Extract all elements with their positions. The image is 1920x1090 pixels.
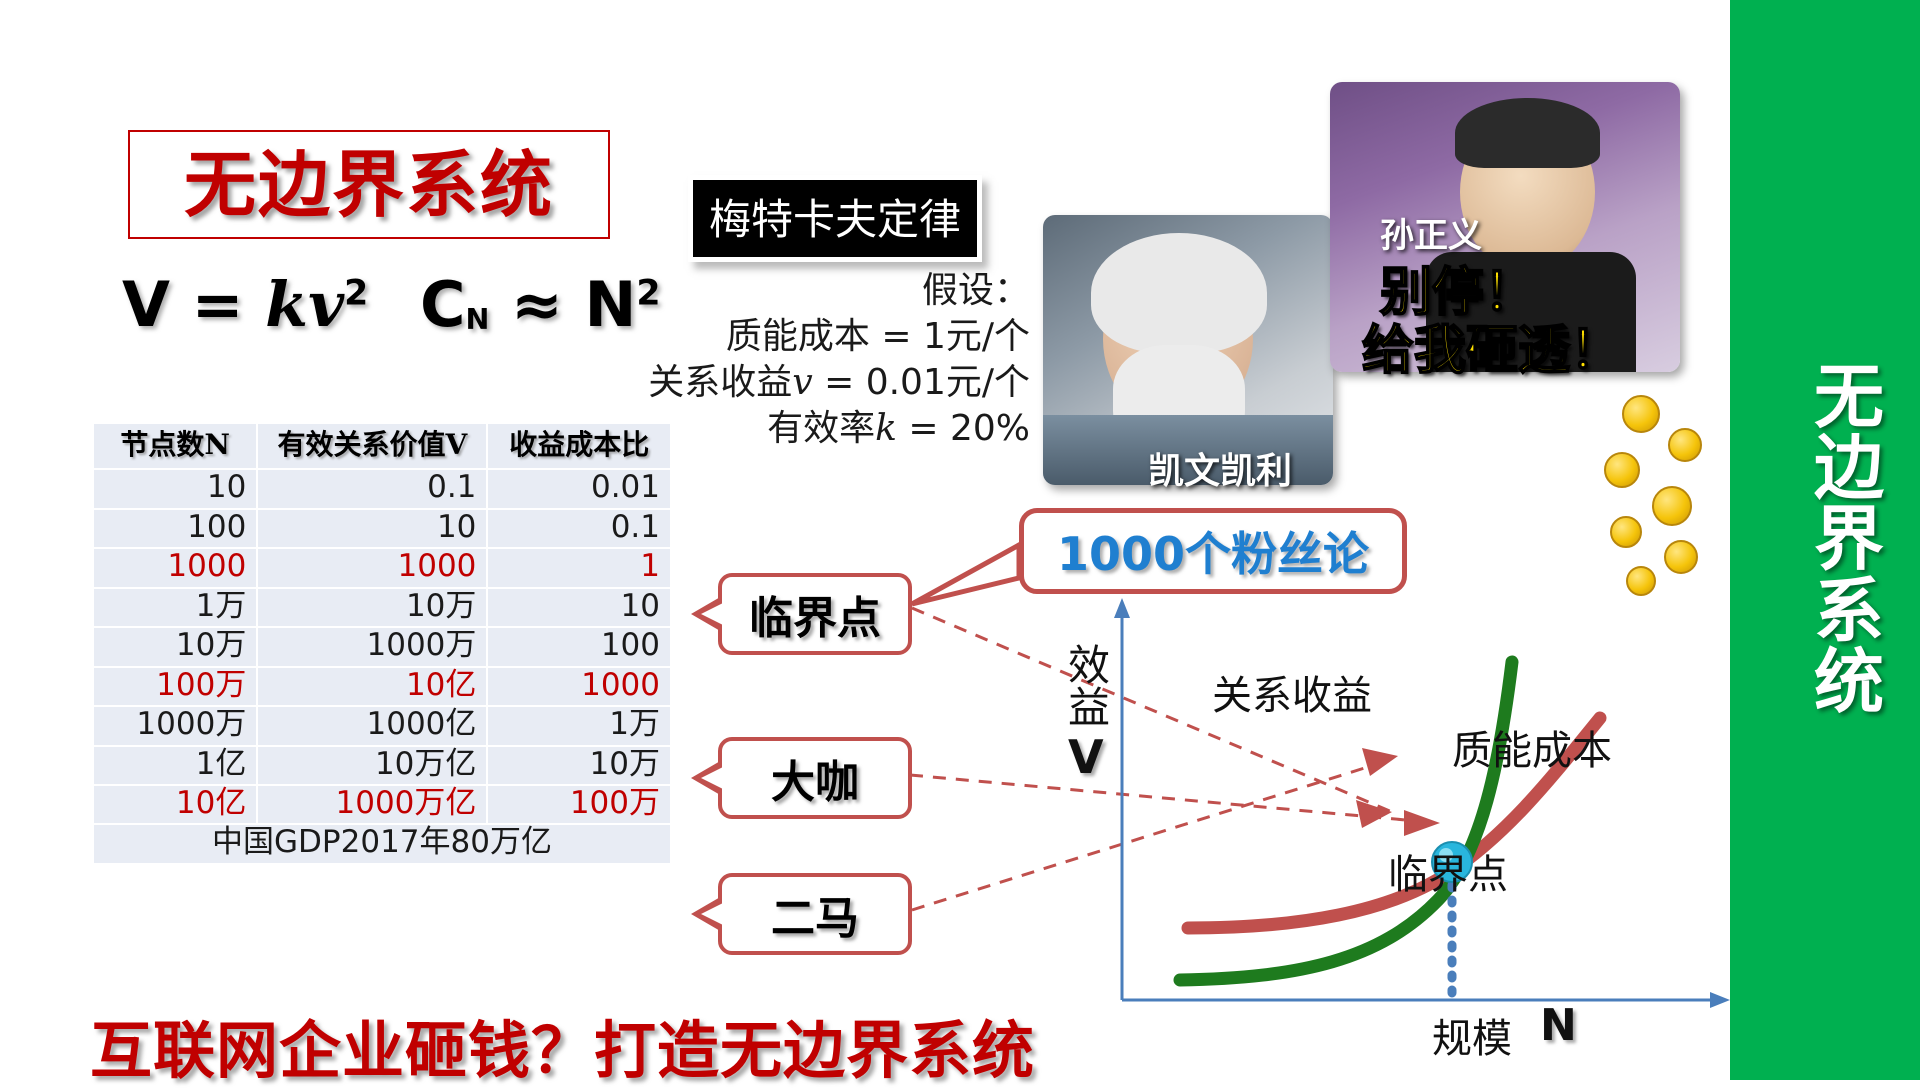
table-cell-nodes: 1万	[93, 588, 257, 627]
table-cell-ratio: 0.1	[487, 509, 671, 548]
table-cell-value: 10亿	[257, 667, 487, 706]
chart-ylabel-char2: 益	[1068, 687, 1110, 729]
bubble-1000-fans[interactable]: 1000个粉丝论	[1019, 508, 1407, 594]
table-row: 100100.1	[93, 509, 671, 548]
coin-icon	[1652, 486, 1692, 526]
table-cell-value: 1000万亿	[257, 785, 487, 824]
callout-tail-inner-icon	[701, 767, 723, 789]
table-footer-gdp: 中国GDP2017年80万亿	[93, 824, 671, 863]
table-header-row: 节点数N 有效关系价值V 收益成本比	[93, 423, 671, 469]
bubble-tail-icon	[912, 545, 1019, 604]
chart-annotation-critical: 临界点	[1388, 842, 1508, 900]
chart-ylabel-symbol: V	[1068, 730, 1104, 784]
callout-erma-label: 二马	[771, 882, 859, 946]
table-header-value: 有效关系价值V	[257, 423, 487, 469]
table-cell-value: 0.1	[257, 469, 487, 508]
title-box: 无边界系统	[128, 130, 610, 239]
table-cell-ratio: 0.01	[487, 469, 671, 508]
chart-series-label-benefit: 关系收益	[1212, 663, 1372, 721]
banner-char-5: 统	[1814, 647, 1884, 718]
callout-daka-label: 大咖	[771, 746, 859, 810]
table-row: 100万10亿1000	[93, 667, 671, 706]
table-cell-nodes: 10万	[93, 627, 257, 666]
assumptions-heading: 假设：	[560, 268, 1030, 314]
table-cell-value: 1000亿	[257, 706, 487, 745]
callout-tail-inner-icon	[701, 903, 723, 925]
banner-char-3: 界	[1814, 504, 1884, 575]
connector-arrowheads	[1356, 748, 1440, 836]
page-title: 无边界系统	[184, 149, 554, 221]
coin-icon	[1604, 452, 1640, 488]
table-cell-ratio: 1万	[487, 706, 671, 745]
table-cell-nodes: 10	[93, 469, 257, 508]
assumption-line-2: 关系收益v = 0.01元/个	[560, 360, 1030, 406]
table-row: 1000万1000亿1万	[93, 706, 671, 745]
callout-critical-label: 临界点	[749, 582, 881, 646]
formula-left-prefix: V =	[122, 268, 265, 341]
assumption-line-1: 质能成本 = 1元/个	[560, 314, 1030, 360]
banner-inner: 无 边 界 系 统	[1778, 0, 1920, 1080]
table-cell-value: 10万亿	[257, 746, 487, 785]
table-cell-ratio: 10	[487, 588, 671, 627]
table-row: 1亿10万亿10万	[93, 746, 671, 785]
coin-icon	[1664, 540, 1698, 574]
table-footer-row: 中国GDP2017年80万亿	[93, 824, 671, 863]
formula-left-italic: kv	[265, 268, 344, 341]
table-cell-nodes: 100万	[93, 667, 257, 706]
coin-icon	[1668, 428, 1702, 462]
table-row: 10亿1000万亿100万	[93, 785, 671, 824]
callout-daka[interactable]: 大咖	[718, 737, 912, 819]
bubble-label: 1000个粉丝论	[1057, 518, 1369, 584]
table-cell-ratio: 100	[487, 627, 671, 666]
table-cell-nodes: 1000万	[93, 706, 257, 745]
caption-kevin-kelly: 凯文凯利	[1148, 442, 1292, 494]
banner-text: 无 边 界 系 统	[1814, 362, 1884, 719]
coin-icon	[1626, 566, 1656, 596]
table-cell-ratio: 100万	[487, 785, 671, 824]
hair-shape	[1455, 98, 1600, 168]
table-cell-value: 10	[257, 509, 487, 548]
callout-tail-inner-icon	[701, 603, 723, 625]
right-green-banner: 无 边 界 系 统	[1730, 0, 1920, 1080]
assumption-3-value: = 20%	[897, 408, 1030, 449]
table-cell-value: 1000	[257, 548, 487, 587]
table-cell-ratio: 1	[487, 548, 671, 587]
assumption-2-value: = 0.01元/个	[813, 362, 1030, 403]
table-row: 10万1000万100	[93, 627, 671, 666]
table-row: 100.10.01	[93, 469, 671, 508]
coin-icon	[1622, 395, 1660, 433]
chart-ylabel-char1: 效	[1068, 645, 1110, 687]
chart-xlabel-text: 规模	[1432, 1006, 1512, 1064]
caption-son-line2: 给我砸透！	[1362, 308, 1622, 383]
chart-series-label-cost: 质能成本	[1452, 718, 1612, 776]
assumption-2-symbol: v	[792, 362, 812, 403]
assumption-3-label: 有效率	[767, 408, 875, 449]
formula-right-main: C	[420, 268, 466, 341]
chart-axes	[1114, 598, 1730, 1008]
formula-value: V = kv2	[122, 268, 368, 341]
connector-lines	[910, 608, 1428, 910]
table-header-nodes: 节点数N	[93, 423, 257, 469]
table-cell-nodes: 100	[93, 509, 257, 548]
callout-erma[interactable]: 二马	[718, 873, 912, 955]
assumption-3-symbol: k	[875, 408, 897, 449]
value-table: 节点数N 有效关系价值V 收益成本比 100.10.01100100.11000…	[92, 422, 672, 865]
formula-left-exponent: 2	[344, 273, 368, 313]
assumption-1-label: 质能成本 =	[726, 316, 923, 357]
assumption-2-label: 关系收益	[648, 362, 792, 403]
formula-right-sub: N	[466, 303, 490, 336]
table-cell-ratio: 10万	[487, 746, 671, 785]
table-cell-value: 10万	[257, 588, 487, 627]
table-cell-ratio: 1000	[487, 667, 671, 706]
table-body: 100.10.01100100.11000100011万10万1010万1000…	[93, 469, 671, 864]
hair-shape	[1091, 233, 1267, 353]
chart-xlabel-symbol: N	[1540, 1000, 1577, 1051]
callout-critical-point[interactable]: 临界点	[718, 573, 912, 655]
table-row: 1万10万10	[93, 588, 671, 627]
bottom-headline: 互联网企业砸钱？打造无边界系统	[90, 1000, 1035, 1090]
assumption-1-value: 1元/个	[923, 316, 1030, 357]
table-cell-nodes: 10亿	[93, 785, 257, 824]
table-cell-nodes: 1亿	[93, 746, 257, 785]
table-header-ratio: 收益成本比	[487, 423, 671, 469]
banner-char-2: 边	[1814, 433, 1884, 504]
metcalfe-law-label: 梅特卡夫定律	[688, 175, 982, 262]
banner-char-1: 无	[1814, 362, 1884, 433]
coin-icon	[1610, 516, 1642, 548]
banner-char-4: 系	[1814, 576, 1884, 647]
chart-ylabel-text: 效 益	[1068, 645, 1110, 729]
table-row: 100010001	[93, 548, 671, 587]
table-cell-value: 1000万	[257, 627, 487, 666]
table-cell-nodes: 1000	[93, 548, 257, 587]
